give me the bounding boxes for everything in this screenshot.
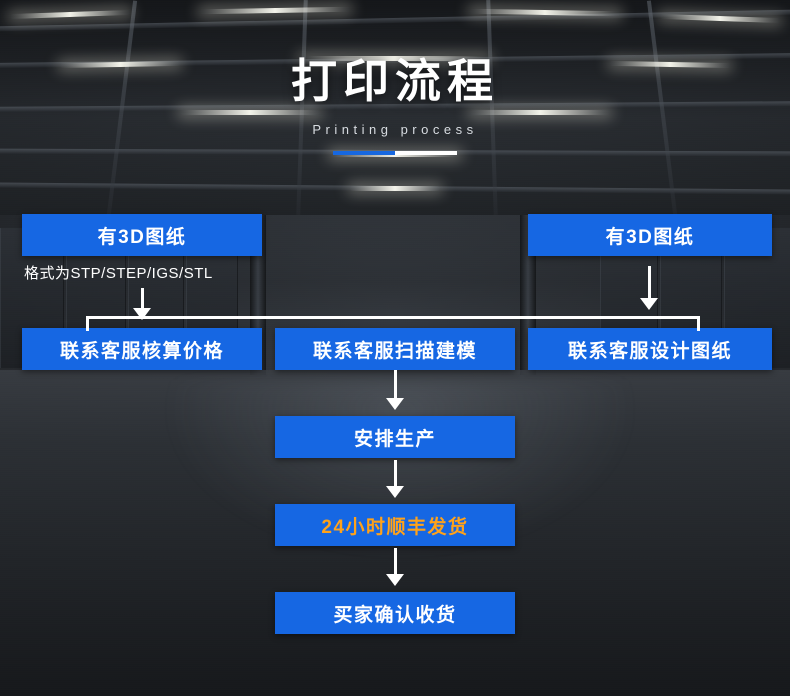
node-have-drawing-right[interactable]: 有3D图纸 [528,214,772,256]
node-ship-24h[interactable]: 24小时顺丰发货 [275,504,515,546]
node-label: 有3D图纸 [606,222,695,249]
node-label: 24小时顺丰发货 [321,512,468,539]
connector-production-to-ship [394,460,397,488]
connector-merge-to-production [394,370,397,400]
arrow-right-down [640,298,658,310]
connector-left-vertical [141,288,144,310]
node-label: 安排生产 [354,424,436,451]
arrow-to-production [386,398,404,410]
node-label: 联系客服设计图纸 [568,336,732,363]
connector-merge-bracket [86,316,700,331]
connector-right-vertical [648,266,651,300]
arrow-to-ship [386,486,404,498]
node-label: 联系客服核算价格 [60,336,224,363]
node-label: 有3D图纸 [98,222,187,249]
connector-ship-to-confirm [394,548,397,576]
node-label: 联系客服扫描建模 [313,336,477,363]
node-have-drawing-left[interactable]: 有3D图纸 [22,214,262,256]
node-label: 买家确认收货 [333,600,456,627]
node-arrange-production[interactable]: 安排生产 [275,416,515,458]
note-file-format: 格式为STP/STEP/IGS/STL [24,262,213,283]
node-contact-price[interactable]: 联系客服核算价格 [22,328,262,370]
flow-diagram: 有3D图纸 有3D图纸 格式为STP/STEP/IGS/STL 联系客服核算价格… [0,0,790,696]
poster-canvas: 打印流程 Printing process 有3D图纸 有3D图纸 格式为STP… [0,0,790,696]
node-buyer-confirm[interactable]: 买家确认收货 [275,592,515,634]
node-contact-scan[interactable]: 联系客服扫描建模 [275,328,515,370]
arrow-to-confirm [386,574,404,586]
node-contact-design[interactable]: 联系客服设计图纸 [528,328,772,370]
